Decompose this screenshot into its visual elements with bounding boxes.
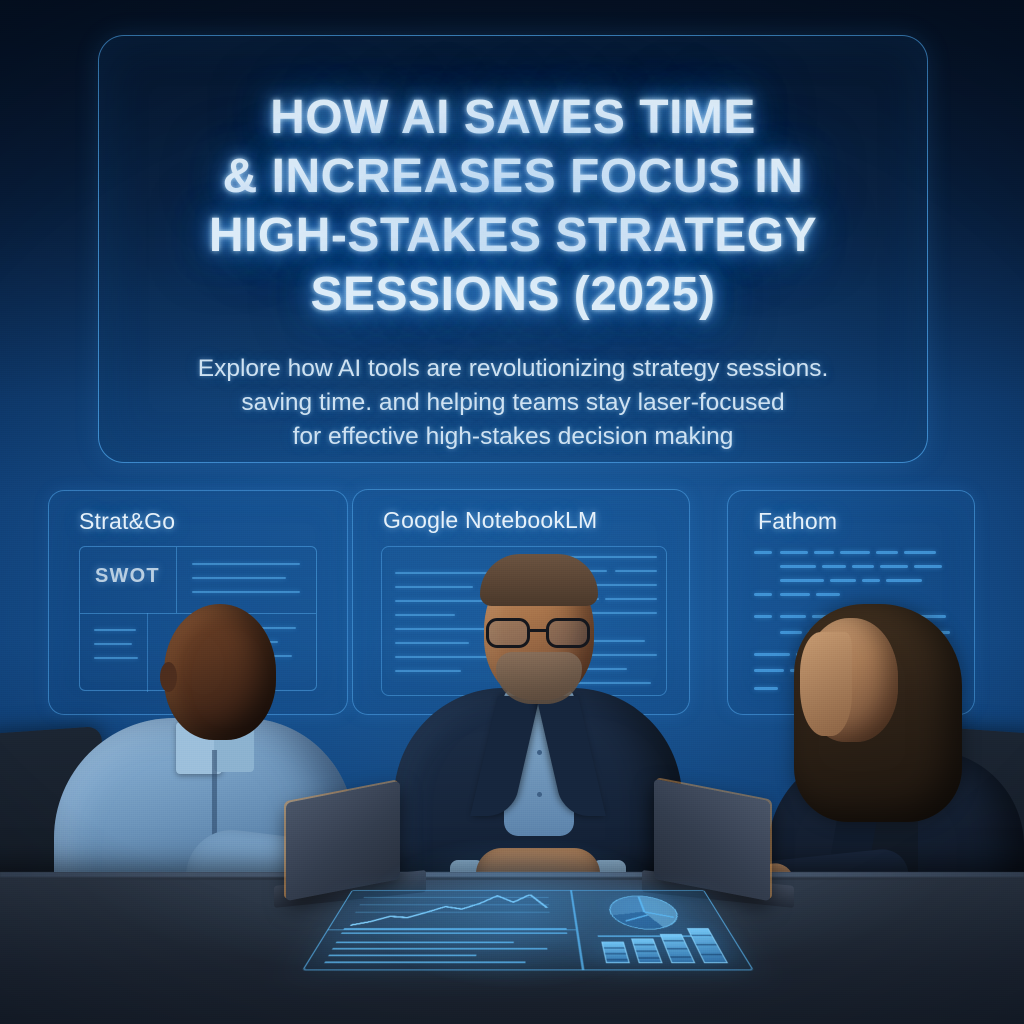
poster-canvas: HOW AI SAVES TIME & INCREASES FOCUS IN H… — [0, 0, 1024, 1024]
vignette — [0, 0, 1024, 1024]
